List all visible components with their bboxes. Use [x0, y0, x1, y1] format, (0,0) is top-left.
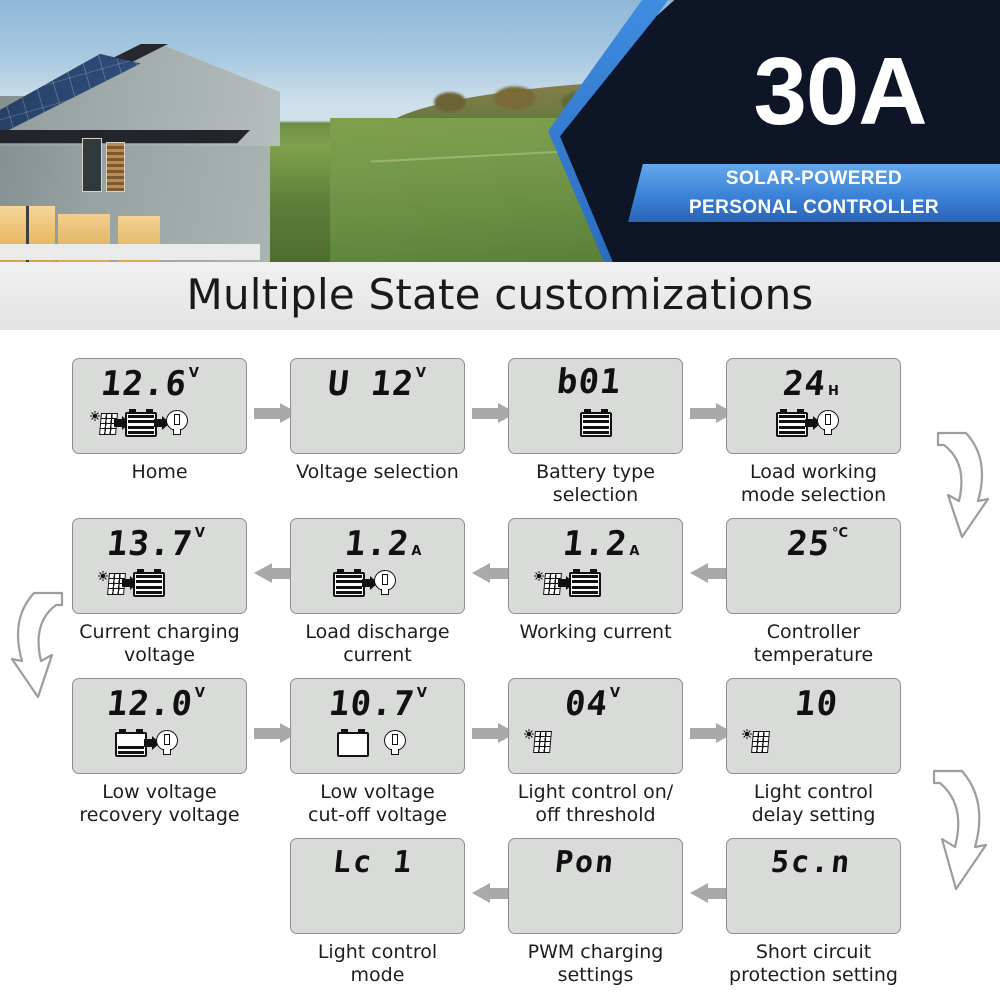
screen-card-light-control-threshold: 04 V Light control on/ off threshold: [508, 678, 683, 827]
screen-card-low-voltage-cutoff: 10.7 V Low voltage cut-off voltage: [290, 678, 465, 827]
lcd-unit: V: [195, 527, 205, 541]
hero-banner: 30A SOLAR-POWERED PERSONAL CONTROLLER: [0, 0, 1000, 262]
lcd-display-short-circuit-protection: 5c.n: [726, 838, 901, 934]
screen-caption: Light control on/ off threshold: [508, 781, 683, 827]
light-bulb-icon: [383, 730, 407, 756]
lcd-display-light-control-mode: Lc 1: [290, 838, 465, 934]
state-flow-diagram: 12.6 V Home U 12 V Voltage sele: [0, 330, 1000, 1000]
curved-wrap-arrow-left-icon: [6, 585, 82, 705]
screen-caption: Low voltage cut-off voltage: [290, 781, 465, 827]
lcd-value: 1.2: [343, 527, 411, 561]
curved-wrap-arrow-right-icon: [918, 425, 994, 545]
section-title-bar: Multiple State customizations: [0, 262, 1000, 330]
screen-caption: Low voltage recovery voltage: [72, 781, 247, 827]
ribbon-line-1: SOLAR-POWERED: [628, 164, 1000, 193]
screen-caption: Voltage selection: [290, 461, 465, 484]
lcd-value: 5c.n: [769, 847, 853, 879]
lcd-display-working-current: 1.2 A: [508, 518, 683, 614]
battery-full-icon: [580, 409, 612, 437]
lcd-unit: A: [629, 545, 639, 559]
screen-card-battery-type: b01 Battery type selection: [508, 358, 683, 507]
battery-full-icon: [569, 569, 601, 597]
lcd-unit: H: [828, 385, 839, 399]
lcd-display-voltage-selection: U 12 V: [290, 358, 465, 454]
lcd-value: 12.6: [99, 367, 188, 401]
lcd-value: 25: [785, 527, 832, 561]
curved-wrap-arrow-right-icon: [912, 765, 994, 895]
screen-caption: Working current: [508, 621, 683, 644]
screen-card-light-control-mode: Lc 1 Light control mode: [290, 838, 465, 987]
lcd-unit: V: [416, 367, 426, 381]
screen-caption: Current charging voltage: [72, 621, 247, 667]
screen-caption: Controller temperature: [726, 621, 901, 667]
solar-panel-icon: [525, 729, 551, 753]
page-title: Multiple State customizations: [0, 262, 1000, 328]
screen-caption: Load working mode selection: [726, 461, 901, 507]
screen-card-light-control-delay: 10 Light control delay setting: [726, 678, 901, 827]
screen-card-voltage-selection: U 12 V Voltage selection: [290, 358, 465, 484]
lcd-unit: °C: [832, 527, 848, 541]
screen-caption: Home: [72, 461, 247, 484]
screen-caption: Light control delay setting: [726, 781, 901, 827]
lcd-value: Lc 1: [331, 847, 415, 879]
solar-panel-icon: [743, 729, 769, 753]
lcd-value: U 12: [326, 367, 415, 401]
screen-caption: Short circuit protection setting: [726, 941, 901, 987]
lcd-display-battery-type: b01: [508, 358, 683, 454]
lcd-display-light-control-delay: 10: [726, 678, 901, 774]
battery-full-icon: [333, 569, 365, 597]
light-bulb-icon: [816, 410, 840, 436]
lcd-display-current-charging-voltage: 13.7 V: [72, 518, 247, 614]
lcd-display-load-discharge-current: 1.2 A: [290, 518, 465, 614]
lcd-value: 10.7: [327, 687, 416, 721]
upper-window: [82, 138, 102, 192]
screen-card-controller-temperature: 25 °C Controller temperature: [726, 518, 901, 667]
lcd-display-controller-temperature: 25 °C: [726, 518, 901, 614]
screen-card-short-circuit-protection: 5c.n Short circuit protection setting: [726, 838, 901, 987]
screen-card-low-voltage-recovery: 12.0 V Low voltage recovery voltage: [72, 678, 247, 827]
lcd-unit: V: [610, 687, 620, 701]
lcd-value: 1.2: [561, 527, 629, 561]
screen-card-load-working-mode: 24 H Load working mode selection: [726, 358, 901, 507]
lcd-display-light-control-threshold: 04 V: [508, 678, 683, 774]
lcd-unit: V: [189, 367, 199, 381]
light-bulb-icon: [155, 730, 179, 756]
battery-half-icon: [115, 729, 147, 757]
lcd-value: Pon: [553, 847, 617, 879]
screen-card-load-discharge-current: 1.2 A Load discharge current: [290, 518, 465, 667]
lcd-unit: A: [411, 545, 421, 559]
lcd-value: 24: [781, 367, 828, 401]
screen-card-current-charging-voltage: 13.7 V Current charging voltage: [72, 518, 247, 667]
lcd-value: 10: [793, 687, 840, 721]
battery-full-icon: [133, 569, 165, 597]
upper-shutter-window: [106, 142, 125, 192]
battery-empty-icon: [337, 729, 369, 757]
screen-card-working-current: 1.2 A Working current: [508, 518, 683, 644]
light-bulb-icon: [373, 570, 397, 596]
lcd-value: 04: [563, 687, 610, 721]
lcd-display-low-voltage-cutoff: 10.7 V: [290, 678, 465, 774]
amp-rating-badge: 30A: [690, 38, 990, 146]
battery-full-icon: [125, 409, 157, 437]
screen-card-home: 12.6 V Home: [72, 358, 247, 484]
lcd-display-load-working-mode: 24 H: [726, 358, 901, 454]
lcd-value: b01: [555, 365, 623, 399]
ribbon-line-2: PERSONAL CONTROLLER: [628, 193, 1000, 222]
product-subtitle-ribbon: SOLAR-POWERED PERSONAL CONTROLLER: [628, 164, 1000, 222]
lcd-value: 13.7: [105, 527, 194, 561]
lcd-display-low-voltage-recovery: 12.0 V: [72, 678, 247, 774]
lcd-value: 12.0: [105, 687, 194, 721]
screen-caption: Light control mode: [290, 941, 465, 987]
lcd-display-pwm-charging-settings: Pon: [508, 838, 683, 934]
screen-card-pwm-charging-settings: Pon PWM charging settings: [508, 838, 683, 987]
screen-caption: Load discharge current: [290, 621, 465, 667]
photo-bottom-fade: [0, 244, 260, 260]
lcd-unit: V: [195, 687, 205, 701]
battery-full-icon: [776, 409, 808, 437]
lcd-unit: V: [417, 687, 427, 701]
lcd-display-home: 12.6 V: [72, 358, 247, 454]
solar-house-photo: [0, 38, 310, 262]
light-bulb-icon: [165, 410, 189, 436]
screen-caption: PWM charging settings: [508, 941, 683, 987]
screen-caption: Battery type selection: [508, 461, 683, 507]
